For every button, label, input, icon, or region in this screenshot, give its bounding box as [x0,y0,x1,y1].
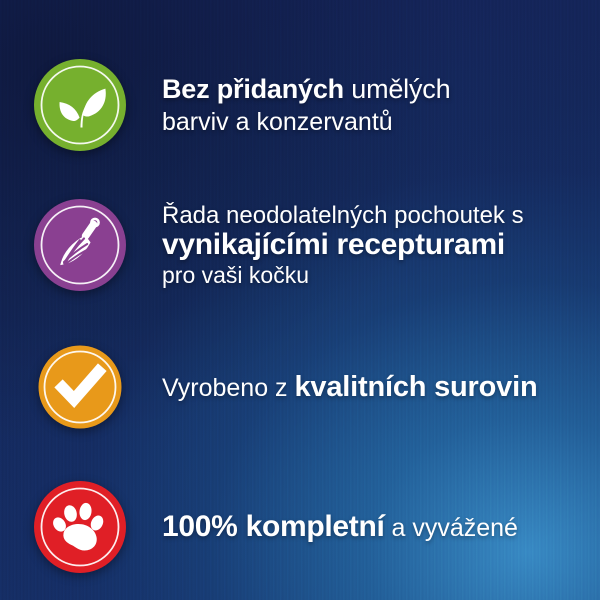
benefit-text: Řada neodolatelných pochoutek s vynikají… [162,203,532,288]
benefit-item-complete-balanced: 100% kompletní a vyvážené [0,467,600,587]
benefit-item-recipes: Řada neodolatelných pochoutek s vynikají… [0,185,600,305]
benefit-text-bold: vynikajícími recepturami [162,228,505,261]
benefit-text-regular: a vyvážené [385,514,518,542]
benefit-text: 100% kompletní a vyvážené [162,511,526,543]
benefit-text-regular: Vyrobeno z [162,374,294,402]
benefit-item-quality: Vyrobeno z kvalitních surovin [0,327,600,447]
paw-icon [32,479,128,575]
benefit-text-bold: 100% kompletní [162,510,385,543]
benefit-text-regular: umělých [344,74,450,104]
benefit-text-regular: Řada neodolatelných pochoutek s [162,202,524,229]
benefit-text: Bez přidaných umělých barviv a konzervan… [162,75,458,135]
benefits-panel: Bez přidaných umělých barviv a konzervan… [0,0,600,600]
whisk-icon [32,197,128,293]
benefits-list: Bez přidaných umělých barviv a konzervan… [0,0,600,600]
checkmark-icon [32,339,128,435]
benefit-text-regular: barviv a konzervantů [162,108,393,136]
benefit-item-no-additives: Bez přidaných umělých barviv a konzervan… [0,45,600,165]
benefit-text-bold: Bez přidaných [162,74,344,104]
benefit-text-regular: pro vaši kočku [162,262,309,288]
benefit-text: Vyrobeno z kvalitních surovin [162,372,545,403]
benefit-text-bold: kvalitních surovin [294,371,537,403]
leaf-icon [32,57,128,153]
